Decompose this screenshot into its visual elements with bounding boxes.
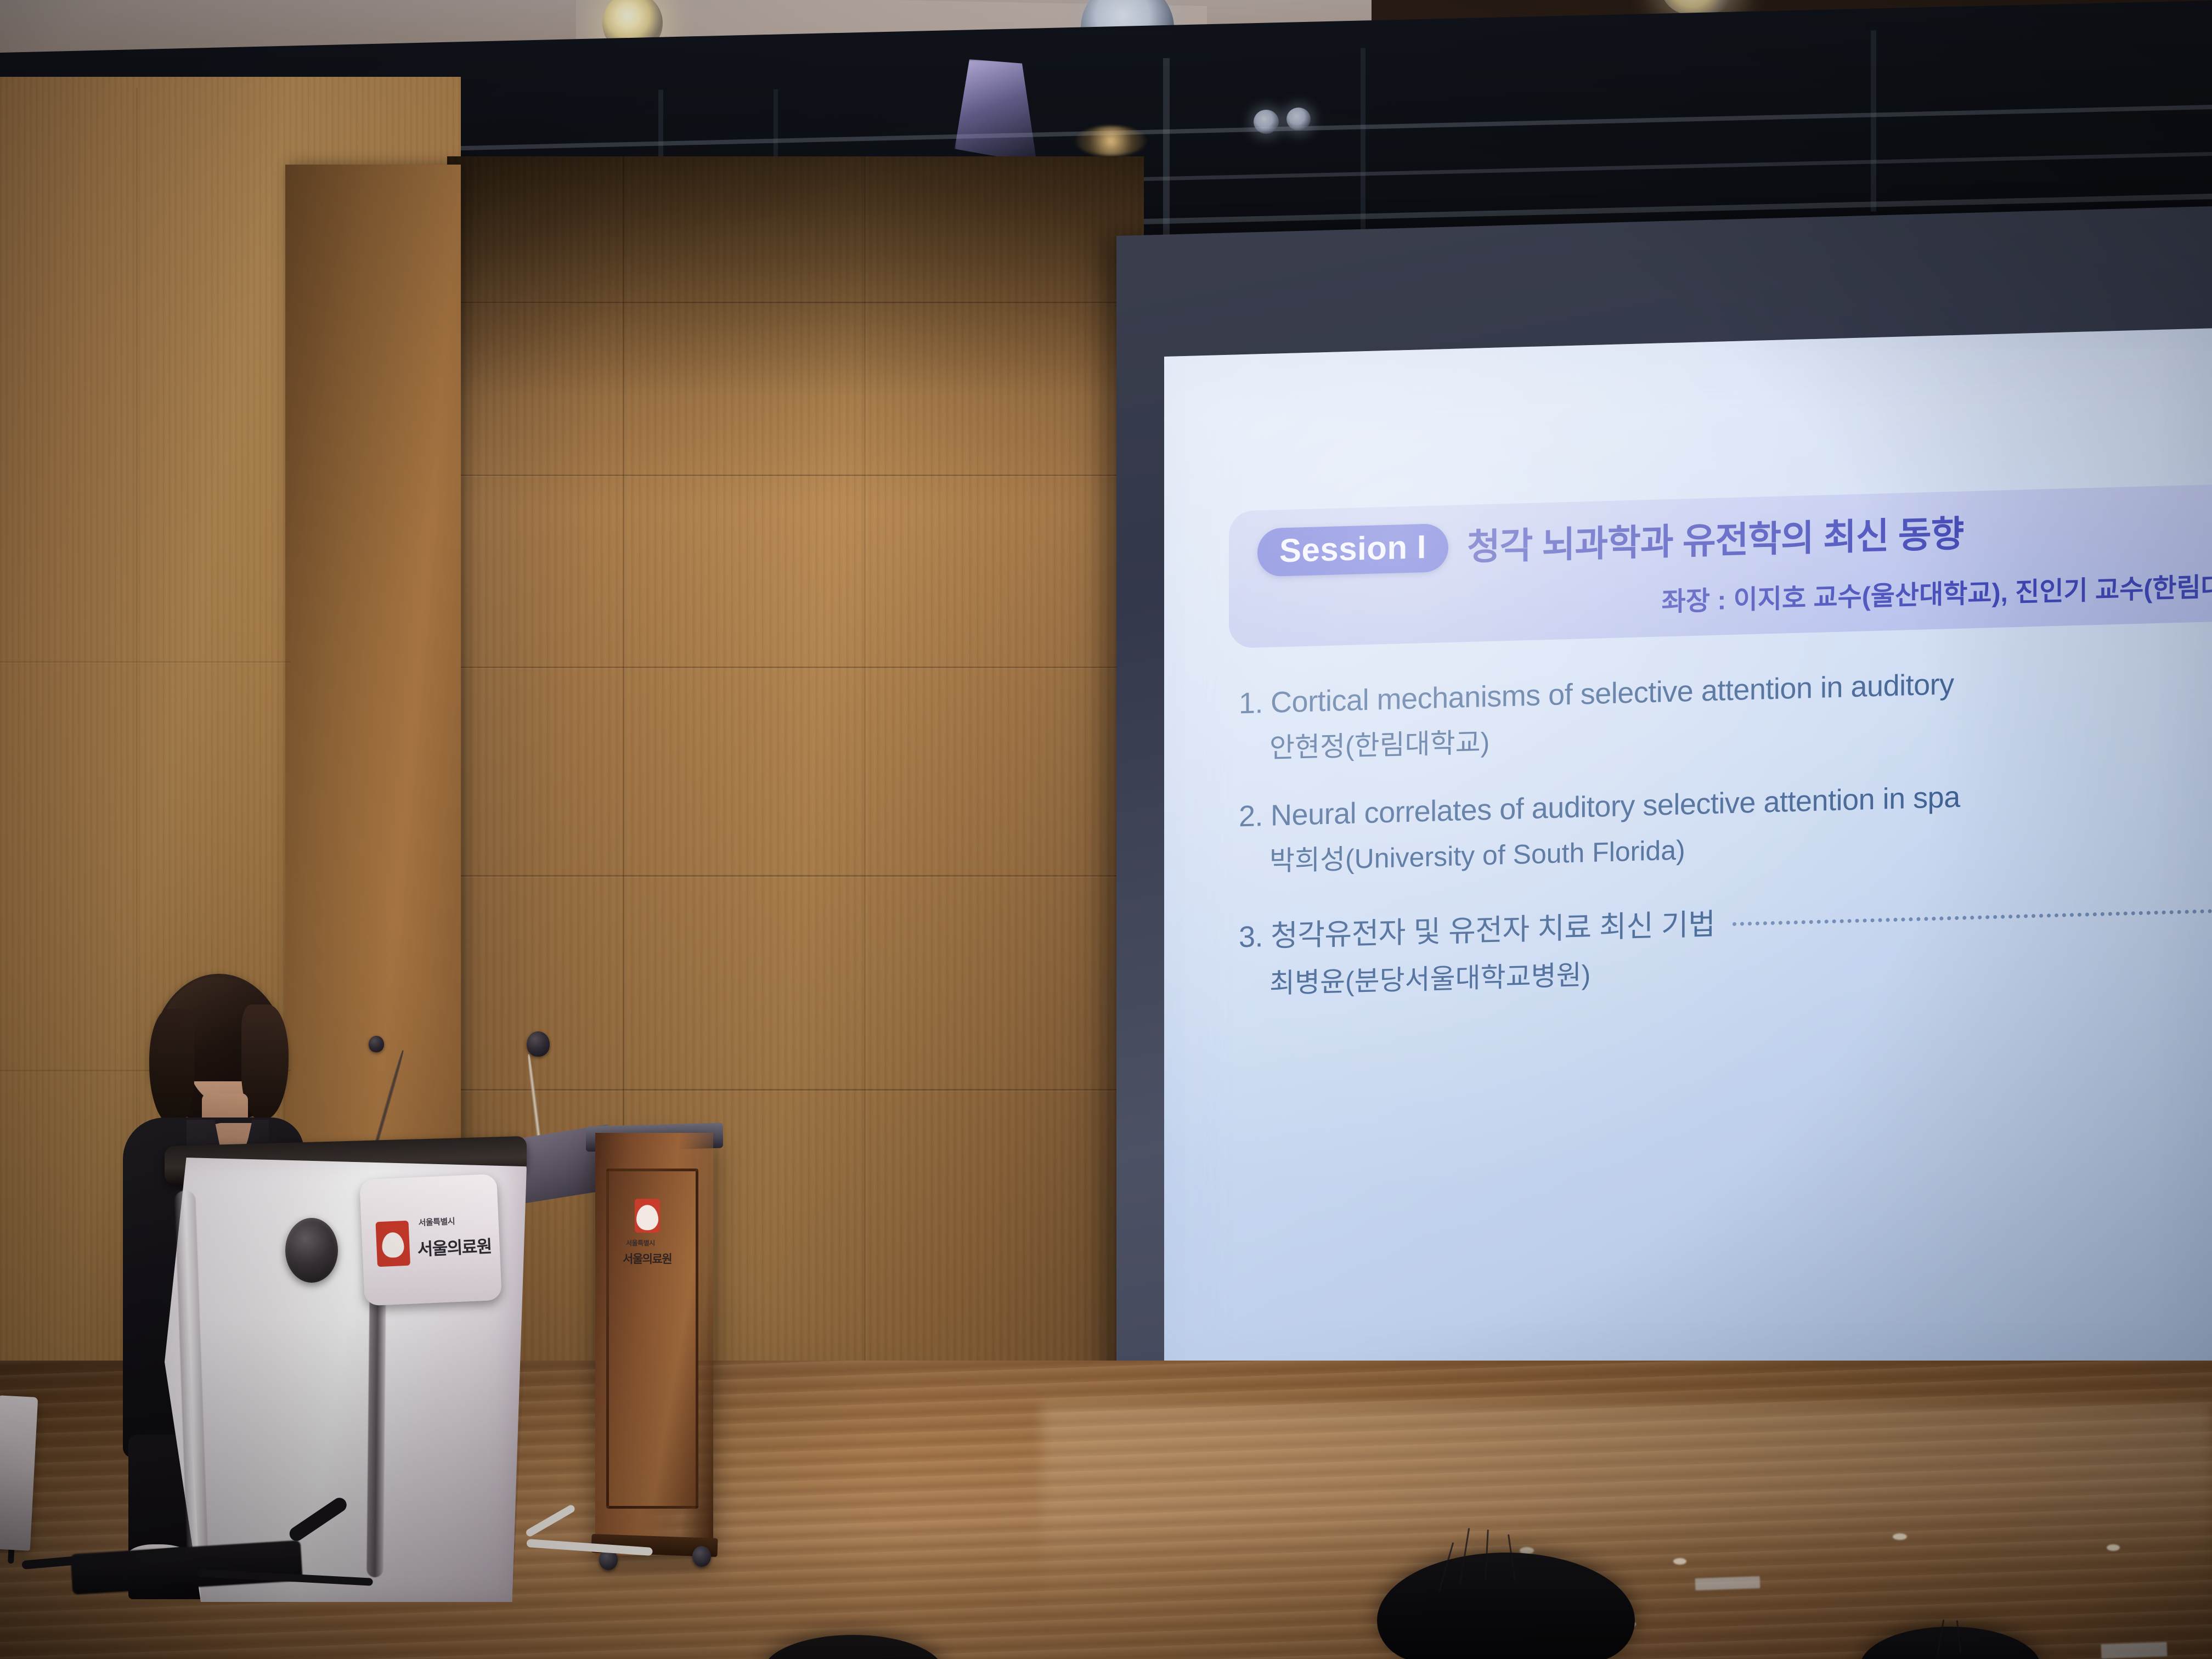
wall-panel-seam xyxy=(447,667,1144,668)
projection-screen-surface: Session I 청각 뇌과학과 유전학의 최신 동향 좌장 : 이지호 교수… xyxy=(1164,328,2212,1393)
seoul-medical-center-emblem-icon xyxy=(635,1199,660,1233)
wall-panel-seam xyxy=(447,875,1144,877)
ceiling-lamp-glow xyxy=(1075,126,1147,156)
agenda-item-3: 3. 청각유전자 및 유전자 치료 최신 기법 최병윤(분당서울대학교병원) xyxy=(1239,884,2212,1002)
floor-marker-tape xyxy=(2101,1642,2168,1658)
lectern-caster-right xyxy=(692,1546,711,1567)
presentation-photo-scene: Session I 청각 뇌과학과 유전학의 최신 동향 좌장 : 이지호 교수… xyxy=(0,0,2212,1659)
session-title: 청각 뇌과학과 유전학의 최신 동향 xyxy=(1467,516,1963,566)
lectern-logo-small-text: 서울특별시 xyxy=(626,1238,655,1248)
session-header-row: Session I 청각 뇌과학과 유전학의 최신 동향 xyxy=(1257,501,2212,577)
agenda-item-3-leader-dots xyxy=(1733,907,2212,926)
ceiling-downlight-small xyxy=(1286,108,1311,131)
podium-logo-small-text: 서울특별시 xyxy=(418,1215,455,1228)
podium-logo-plate: 서울특별시 서울의료원 xyxy=(359,1174,502,1306)
agenda-item-3-number: 3. xyxy=(1239,919,1263,954)
agenda-item-1: 1. Cortical mechanisms of selective atte… xyxy=(1239,658,2212,767)
wall-left-seam xyxy=(0,661,291,663)
wall-panel-seam xyxy=(447,475,1144,476)
ceiling-downlight-small xyxy=(1254,110,1279,134)
presenter-hair-left xyxy=(149,1009,194,1125)
agenda-list: 1. Cortical mechanisms of selective atte… xyxy=(1229,658,2212,1002)
agenda-item-2: 2. Neural correlates of auditory selecti… xyxy=(1239,771,2212,880)
floor-light-reflection xyxy=(2107,1544,2120,1551)
lectern-logo-large-text: 서울의료원 xyxy=(623,1250,672,1267)
floor-light-reflection xyxy=(1893,1533,1907,1540)
agenda-item-3-title: 청각유전자 및 유전자 치료 최신 기법 xyxy=(1271,900,1715,955)
floor-light-reflection xyxy=(1673,1558,1686,1565)
microphone-head-right xyxy=(527,1031,550,1057)
lectern-logo: 서울특별시 서울의료원 xyxy=(622,1193,680,1288)
agenda-item-1-number: 1. xyxy=(1239,686,1263,720)
session-chairs: 좌장 : 이지호 교수(울산대학교), 진인기 교수(한림대학 xyxy=(1455,564,2212,624)
ceiling-truss-post xyxy=(1361,48,1365,234)
ceiling-truss-post xyxy=(1871,30,1876,211)
wall-panel-seam xyxy=(447,1089,1144,1091)
floor-marker-tape xyxy=(1695,1576,1760,1590)
podium-logo-large-text: 서울의료원 xyxy=(417,1232,492,1260)
presenter-hair-right xyxy=(241,1005,289,1120)
session-badge: Session I xyxy=(1257,523,1448,577)
seoul-medical-center-emblem-icon xyxy=(375,1221,410,1267)
session-header-band: Session I 청각 뇌과학과 유전학의 최신 동향 좌장 : 이지호 교수… xyxy=(1229,483,2212,648)
wall-top-shadow xyxy=(447,156,1144,398)
podium-control-knob[interactable] xyxy=(285,1218,338,1283)
ceiling-truss-post xyxy=(1163,58,1170,239)
agenda-item-2-number: 2. xyxy=(1239,799,1263,833)
slide-content: Session I 청각 뇌과학과 유전학의 최신 동향 좌장 : 이지호 교수… xyxy=(1229,482,2212,1035)
